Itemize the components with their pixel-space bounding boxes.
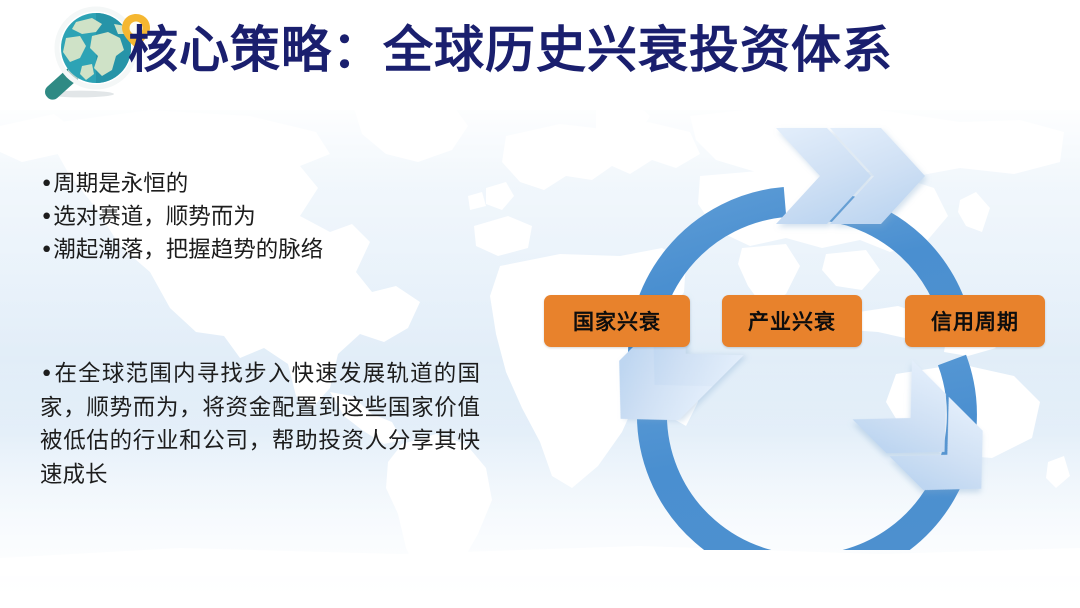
cycle-node-industry[interactable]: 产业兴衰 <box>722 295 862 347</box>
cycle-node-label: 国家兴衰 <box>573 306 661 336</box>
cycle-node-credit[interactable]: 信用周期 <box>905 295 1045 347</box>
bullet-list: •周期是永恒的 •选对赛道，顺势而为 •潮起潮落，把握趋势的脉络 <box>40 168 510 267</box>
page-title: 核心策略：全球历史兴衰投资体系 <box>128 18 893 82</box>
slide-header: 核心策略：全球历史兴衰投资体系 <box>0 0 1080 104</box>
list-item: •选对赛道，顺势而为 <box>40 201 510 234</box>
list-item: •周期是永恒的 <box>40 168 510 201</box>
bullet-list-block: •周期是永恒的 •选对赛道，顺势而为 •潮起潮落，把握趋势的脉络 <box>40 168 510 267</box>
list-item: •潮起潮落，把握趋势的脉络 <box>40 234 510 267</box>
cycle-diagram: 国家兴衰 产业兴衰 信用周期 <box>560 110 1060 550</box>
cycle-node-label: 产业兴衰 <box>748 306 836 336</box>
cycle-node-label: 信用周期 <box>931 306 1019 336</box>
cycle-node-row: 国家兴衰 产业兴衰 信用周期 <box>560 110 1060 550</box>
slide: 核心策略：全球历史兴衰投资体系 •周期是永恒的 •选对赛道，顺势而为 •潮起潮落… <box>0 0 1080 608</box>
bottom-fade <box>0 566 1080 608</box>
cycle-node-national[interactable]: 国家兴衰 <box>544 295 690 347</box>
strategy-paragraph: •在全球范围内寻找步入快速发展轨道的国家，顺势而为，将资金配置到这些国家价值被低… <box>40 358 480 492</box>
